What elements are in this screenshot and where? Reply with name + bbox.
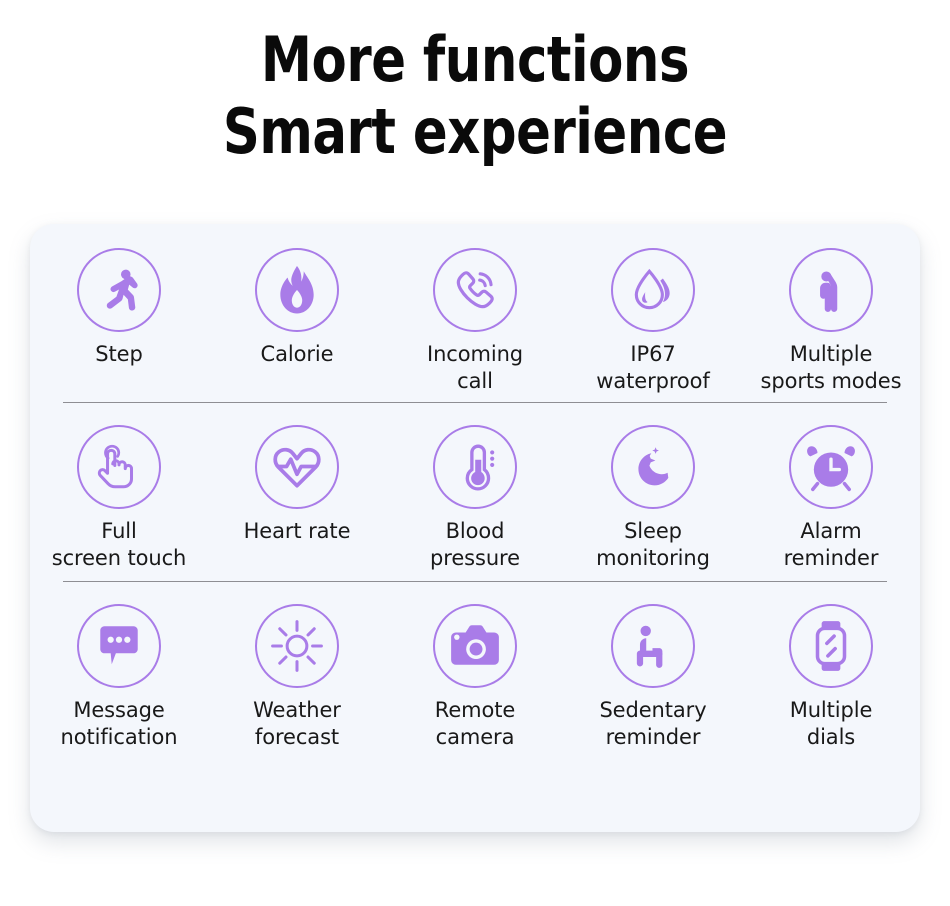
feature-item-alarm-reminder[interactable]: Alarm reminder	[742, 425, 920, 572]
feature-label: Heart rate	[244, 518, 351, 545]
feature-item-sedentary-reminder[interactable]: Sedentary reminder	[564, 604, 742, 751]
flame-icon	[255, 248, 339, 332]
feature-item-full-screen-touch[interactable]: Full screen touch	[30, 425, 208, 572]
sun-icon	[255, 604, 339, 688]
feature-label: Message notification	[61, 697, 178, 751]
page-headline: More functions Smart experience	[0, 0, 950, 168]
feature-row-1: Step Calorie Incoming call	[30, 224, 920, 402]
feature-label: Sleep monitoring	[596, 518, 710, 572]
stretching-person-icon	[789, 248, 873, 332]
moon-stars-icon	[611, 425, 695, 509]
camera-icon	[433, 604, 517, 688]
feature-item-sports-modes[interactable]: Multiple sports modes	[742, 248, 920, 395]
feature-label: Multiple dials	[790, 697, 873, 751]
feature-item-heart-rate[interactable]: Heart rate	[208, 425, 386, 545]
feature-label: IP67 waterproof	[596, 341, 709, 395]
feature-label: Sedentary reminder	[599, 697, 706, 751]
running-person-icon	[77, 248, 161, 332]
water-drop-icon	[611, 248, 695, 332]
feature-label: Step	[95, 341, 142, 368]
smartwatch-icon	[789, 604, 873, 688]
feature-item-incoming-call[interactable]: Incoming call	[386, 248, 564, 395]
feature-label: Remote camera	[435, 697, 515, 751]
feature-label: Multiple sports modes	[761, 341, 902, 395]
sitting-person-icon	[611, 604, 695, 688]
thermometer-icon	[433, 425, 517, 509]
message-bubble-icon	[77, 604, 161, 688]
feature-label: Alarm reminder	[784, 518, 879, 572]
heart-pulse-icon	[255, 425, 339, 509]
feature-label: Calorie	[261, 341, 334, 368]
touch-hand-icon	[77, 425, 161, 509]
phone-call-icon	[433, 248, 517, 332]
feature-row-2: Full screen touch Heart rate	[30, 403, 920, 581]
headline-line-2: Smart experience	[38, 96, 912, 168]
feature-item-message-notification[interactable]: Message notification	[30, 604, 208, 751]
feature-item-blood-pressure[interactable]: Blood pressure	[386, 425, 564, 572]
feature-item-remote-camera[interactable]: Remote camera	[386, 604, 564, 751]
feature-item-sleep-monitoring[interactable]: Sleep monitoring	[564, 425, 742, 572]
feature-item-multiple-dials[interactable]: Multiple dials	[742, 604, 920, 751]
feature-label: Weather forecast	[253, 697, 341, 751]
feature-label: Incoming call	[427, 341, 523, 395]
headline-line-1: More functions	[38, 24, 912, 96]
alarm-clock-icon	[789, 425, 873, 509]
feature-card: Step Calorie Incoming call	[30, 224, 920, 832]
feature-label: Blood pressure	[430, 518, 520, 572]
feature-item-ip67-waterproof[interactable]: IP67 waterproof	[564, 248, 742, 395]
feature-label: Full screen touch	[52, 518, 187, 572]
feature-item-weather-forecast[interactable]: Weather forecast	[208, 604, 386, 751]
feature-item-step[interactable]: Step	[30, 248, 208, 368]
feature-row-3: Message notification	[30, 582, 920, 760]
feature-item-calorie[interactable]: Calorie	[208, 248, 386, 368]
